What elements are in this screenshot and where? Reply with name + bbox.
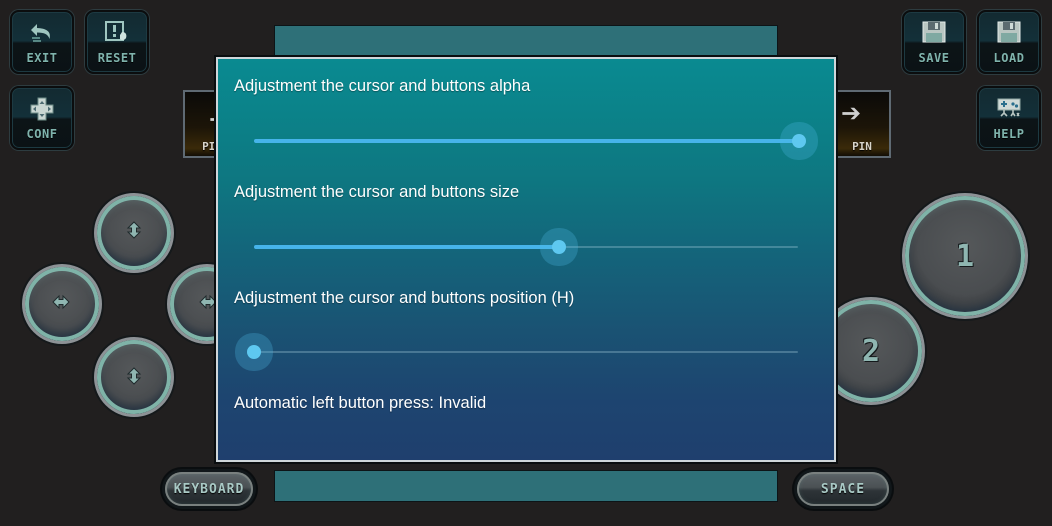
setting-row-size: Adjustment the cursor and buttons size bbox=[218, 163, 834, 203]
pin-right-label: PIN bbox=[852, 140, 872, 153]
cursor-arrow-icon: ➔ bbox=[841, 102, 861, 126]
exit-button[interactable]: EXIT bbox=[10, 10, 74, 74]
setting-label-size: Adjustment the cursor and buttons size bbox=[234, 183, 818, 203]
setting-label-auto-left-click: Automatic left button press: Invalid bbox=[234, 394, 818, 414]
bottom-touch-strip[interactable] bbox=[274, 470, 778, 502]
top-touch-strip[interactable] bbox=[274, 25, 778, 60]
slider-position-h[interactable] bbox=[234, 330, 818, 374]
keyboard-button-label: KEYBOARD bbox=[174, 482, 245, 497]
slider-size-fill bbox=[254, 245, 559, 249]
slider-size[interactable] bbox=[234, 225, 818, 269]
arrow-right-icon bbox=[196, 291, 218, 318]
arrow-left-icon bbox=[51, 291, 73, 318]
space-button-label: SPACE bbox=[821, 482, 865, 497]
floppy-disk-icon bbox=[920, 18, 948, 48]
setting-label-position-h: Adjustment the cursor and buttons positi… bbox=[234, 289, 818, 309]
reset-button[interactable]: RESET bbox=[85, 10, 149, 74]
help-button[interactable]: HELP bbox=[977, 86, 1041, 150]
setting-row-auto-left-click[interactable]: Automatic left button press: Invalid bbox=[218, 374, 834, 414]
reset-device-icon bbox=[103, 18, 131, 48]
load-button-label: LOAD bbox=[994, 51, 1025, 65]
slider-alpha-thumb[interactable] bbox=[792, 134, 806, 148]
save-button[interactable]: SAVE bbox=[902, 10, 966, 74]
space-button[interactable]: SPACE bbox=[797, 472, 889, 506]
dpad-up-button[interactable] bbox=[97, 196, 171, 270]
slider-alpha-fill bbox=[254, 139, 799, 143]
conf-button-label: CONF bbox=[27, 127, 58, 141]
arrow-down-icon bbox=[123, 364, 145, 391]
load-button[interactable]: LOAD bbox=[977, 10, 1041, 74]
dpad-left-button[interactable] bbox=[25, 267, 99, 341]
keyboard-button[interactable]: KEYBOARD bbox=[165, 472, 253, 506]
undo-arrow-icon bbox=[27, 18, 57, 48]
settings-dialog: Adjustment the cursor and buttons alpha … bbox=[216, 57, 836, 462]
slider-alpha[interactable] bbox=[234, 119, 818, 163]
reset-button-label: RESET bbox=[98, 51, 137, 65]
exit-button-label: EXIT bbox=[27, 51, 58, 65]
action-button-2-label: 2 bbox=[862, 334, 880, 369]
pin-right-thumbnail[interactable]: ➔ PIN bbox=[833, 90, 891, 158]
setting-row-position-h: Adjustment the cursor and buttons positi… bbox=[218, 269, 834, 309]
action-button-1[interactable]: 1 bbox=[905, 196, 1025, 316]
setting-label-alpha: Adjustment the cursor and buttons alpha bbox=[234, 77, 818, 97]
gamepad-help-icon bbox=[995, 94, 1023, 124]
slider-size-thumb[interactable] bbox=[552, 240, 566, 254]
help-button-label: HELP bbox=[994, 127, 1025, 141]
slider-position-h-track bbox=[254, 351, 798, 353]
floppy-disk-icon bbox=[995, 18, 1023, 48]
dpad-icon bbox=[28, 94, 56, 124]
setting-row-alpha: Adjustment the cursor and buttons alpha bbox=[218, 59, 834, 97]
action-button-1-label: 1 bbox=[956, 239, 974, 274]
arrow-up-icon bbox=[123, 220, 145, 247]
save-button-label: SAVE bbox=[919, 51, 950, 65]
slider-position-h-thumb[interactable] bbox=[247, 345, 261, 359]
dpad-down-button[interactable] bbox=[97, 340, 171, 414]
conf-button[interactable]: CONF bbox=[10, 86, 74, 150]
app-screen: EXIT RESET CONF bbox=[0, 0, 1052, 526]
